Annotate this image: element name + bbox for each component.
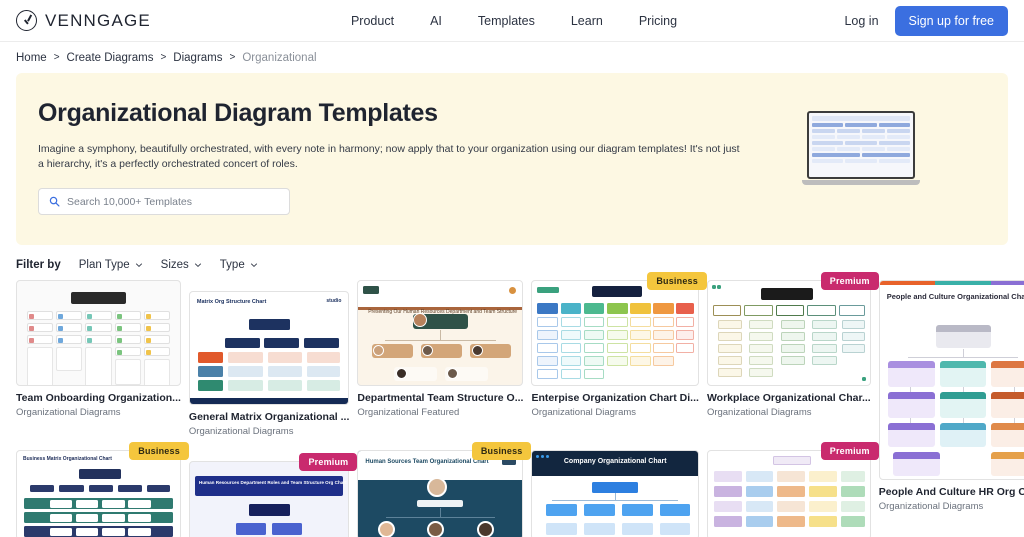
template-card[interactable]: Premium	[707, 280, 871, 418]
template-thumbnail[interactable]: Business Matrix Organizational Chart	[16, 450, 181, 537]
template-thumbnail[interactable]	[531, 280, 698, 386]
status-badge-premium: Premium	[821, 442, 879, 460]
template-title[interactable]: People And Culture HR Org Cha...	[879, 486, 1024, 498]
breadcrumb: Home > Create Diagrams > Diagrams > Orga…	[0, 42, 1024, 73]
breadcrumb-item-diagrams[interactable]: Diagrams	[173, 52, 222, 64]
breadcrumb-separator: >	[160, 52, 166, 63]
hero-laptop-illustration	[802, 111, 920, 185]
template-thumbnail[interactable]: Presenting Our Human Resources Departmen…	[357, 280, 523, 386]
chevron-down-icon	[194, 261, 202, 269]
thumbnail-title: Company Organizational Chart	[532, 458, 697, 465]
template-card[interactable]: Business	[531, 280, 698, 418]
filter-type-label: Type	[220, 259, 245, 271]
template-card[interactable]: Presenting Our Human Resources Departmen…	[357, 280, 523, 418]
filter-plan-type-label: Plan Type	[79, 259, 130, 271]
status-badge-premium: Premium	[821, 272, 879, 290]
template-title[interactable]: Workplace Organizational Char...	[707, 392, 871, 404]
template-card[interactable]: People and Culture Organizational Chart	[879, 280, 1024, 512]
template-thumbnail[interactable]: Company Organizational Chart	[531, 450, 698, 537]
search-input[interactable]: Search 10,000+ Templates	[38, 188, 290, 215]
breadcrumb-item-create-diagrams[interactable]: Create Diagrams	[67, 52, 154, 64]
status-badge-business: Business	[472, 442, 532, 460]
template-category: Organizational Diagrams	[879, 501, 1024, 512]
status-badge-business: Business	[129, 442, 189, 460]
venngage-logo-icon	[16, 10, 37, 31]
template-column-6: People and Culture Organizational Chart	[879, 280, 1024, 512]
template-thumbnail[interactable]: Human Sources Team Organizational Chart	[357, 450, 523, 537]
template-category: Organizational Diagrams	[189, 426, 349, 437]
laptop-base	[802, 180, 920, 185]
template-card[interactable]: Business Business Matrix Organizational …	[16, 450, 181, 537]
nav-item-templates[interactable]: Templates	[478, 14, 535, 28]
template-title[interactable]: Enterpise Organization Chart Di...	[531, 392, 698, 404]
brand-logo[interactable]: VENNGAGE	[16, 10, 151, 31]
template-thumbnail[interactable]: People and Culture Organizational Chart	[879, 280, 1024, 480]
thumbnail-logo: studio	[326, 298, 341, 304]
login-link[interactable]: Log in	[844, 14, 878, 28]
template-column-3: Presenting Our Human Resources Departmen…	[357, 280, 523, 537]
template-title[interactable]: Departmental Team Structure O...	[357, 392, 523, 404]
brand-name: VENNGAGE	[45, 11, 151, 31]
chevron-down-icon	[250, 261, 258, 269]
template-thumbnail[interactable]: Human Resources Department Roles and Tea…	[189, 461, 349, 537]
hero-banner: Organizational Diagram Templates Imagine…	[16, 73, 1008, 245]
filter-plan-type[interactable]: Plan Type	[79, 259, 143, 271]
template-thumbnail[interactable]: Matrix Org Structure Chart studio	[189, 291, 349, 405]
filter-sizes[interactable]: Sizes	[161, 259, 202, 271]
search-placeholder-text: Search 10,000+ Templates	[67, 196, 192, 208]
nav-actions: Log in Sign up for free	[844, 6, 1008, 36]
template-title[interactable]: General Matrix Organizational ...	[189, 411, 349, 423]
thumbnail-title: Human Sources Team Organizational Chart	[365, 458, 488, 467]
thumbnail-title: People and Culture Organizational Chart	[887, 292, 1024, 302]
thumbnail-title: Business Matrix Organizational Chart	[23, 456, 112, 463]
top-navigation-bar: VENNGAGE Product AI Templates Learn Pric…	[0, 0, 1024, 42]
template-column-2: Matrix Org Structure Chart studio	[189, 291, 349, 537]
template-category: Organizational Diagrams	[16, 407, 181, 418]
search-icon	[49, 196, 60, 207]
nav-item-learn[interactable]: Learn	[571, 14, 603, 28]
thumbnail-title: Human Resources Department Roles and Tea…	[199, 480, 347, 487]
template-column-4: Business	[531, 280, 698, 537]
nav-item-product[interactable]: Product	[351, 14, 394, 28]
template-card[interactable]: Business Human Sources Team Organization…	[357, 450, 523, 537]
status-badge-premium: Premium	[299, 453, 357, 471]
template-category: Organizational Diagrams	[531, 407, 698, 418]
breadcrumb-item-organizational: Organizational	[242, 52, 316, 64]
template-column-5: Premium	[707, 280, 871, 537]
chevron-down-icon	[135, 261, 143, 269]
template-card[interactable]: Premium Human Resources Department Roles…	[189, 461, 349, 537]
template-thumbnail[interactable]	[16, 280, 181, 386]
template-category: Organizational Diagrams	[707, 407, 871, 418]
template-grid: Team Onboarding Organization... Organiza…	[0, 280, 1024, 537]
breadcrumb-separator: >	[230, 52, 236, 63]
template-category: Organizational Featured	[357, 407, 523, 418]
filter-by-label: Filter by	[16, 259, 61, 271]
template-thumbnail[interactable]	[707, 280, 871, 386]
status-badge-business: Business	[647, 272, 707, 290]
signup-button[interactable]: Sign up for free	[895, 6, 1008, 36]
template-card[interactable]: Matrix Org Structure Chart studio	[189, 291, 349, 437]
template-title[interactable]: Team Onboarding Organization...	[16, 392, 181, 404]
template-column-1: Team Onboarding Organization... Organiza…	[16, 280, 181, 537]
template-thumbnail[interactable]	[707, 450, 871, 537]
nav-item-ai[interactable]: AI	[430, 14, 442, 28]
breadcrumb-item-home[interactable]: Home	[16, 52, 47, 64]
template-card[interactable]: Premium	[707, 450, 871, 537]
thumbnail-title: Matrix Org Structure Chart	[197, 299, 266, 305]
template-card[interactable]: Company Organizational Chart	[531, 450, 698, 537]
template-card[interactable]: Team Onboarding Organization... Organiza…	[16, 280, 181, 418]
breadcrumb-separator: >	[54, 52, 60, 63]
filter-type[interactable]: Type	[220, 259, 258, 271]
hero-description: Imagine a symphony, beautifully orchestr…	[38, 142, 748, 172]
filter-sizes-label: Sizes	[161, 259, 189, 271]
laptop-screen	[807, 111, 915, 179]
nav-links: Product AI Templates Learn Pricing	[351, 14, 677, 28]
nav-item-pricing[interactable]: Pricing	[639, 14, 677, 28]
